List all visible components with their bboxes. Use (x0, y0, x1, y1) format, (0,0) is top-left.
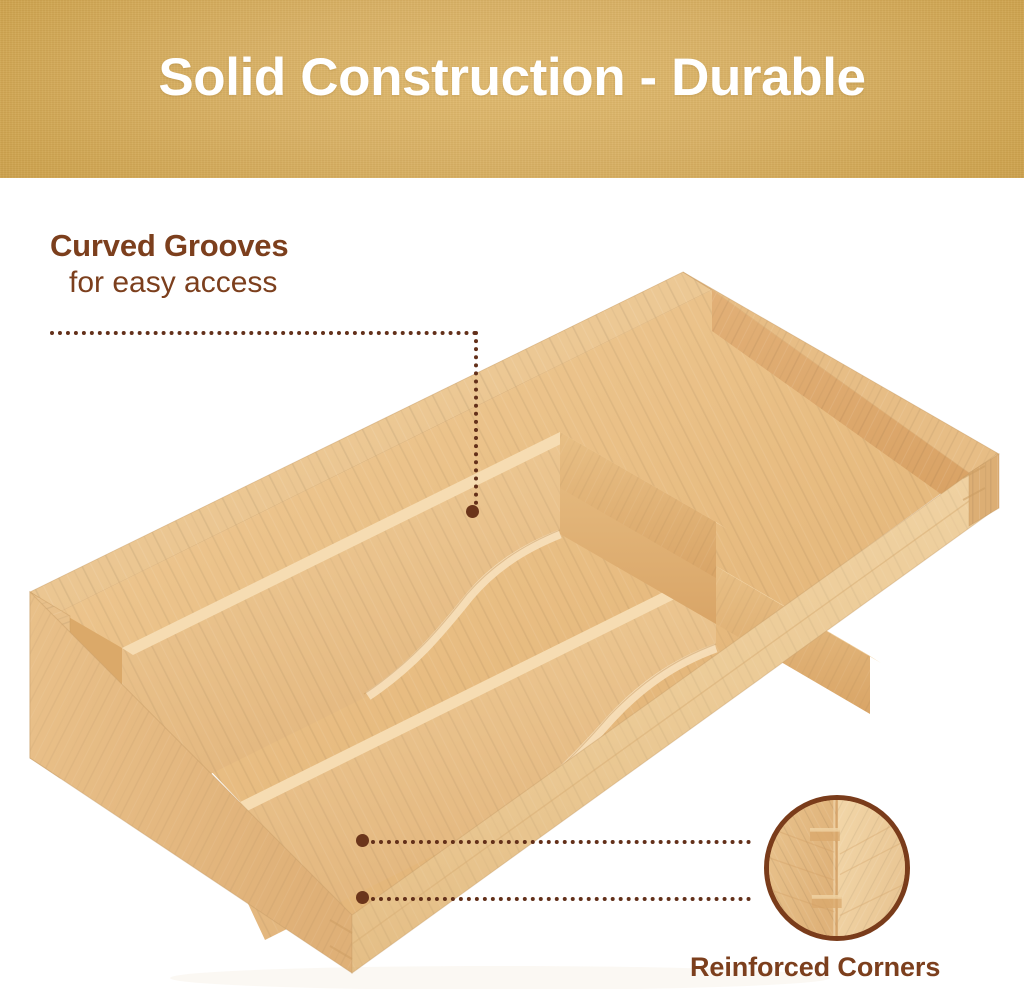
leader-dot-curved-grooves (466, 505, 479, 518)
leader-dot-corner-upper (356, 834, 369, 847)
callout-curved-grooves: Curved Grooves for easy access (50, 228, 288, 301)
header-banner: Solid Construction - Durable (0, 0, 1024, 178)
infographic-page: Solid Construction - Durable (0, 0, 1024, 989)
leader-dot-corner-lower (356, 891, 369, 904)
callout-curved-grooves-subheading: for easy access (50, 265, 288, 301)
leader-line-curved-vertical (474, 331, 478, 513)
page-title: Solid Construction - Durable (0, 50, 1024, 106)
callout-reinforced-corners-label: Reinforced Corners (690, 952, 940, 983)
corner-joint-detail-icon (764, 795, 910, 941)
leader-line-corner-upper (371, 840, 751, 844)
leader-line-corner-lower (371, 897, 751, 901)
callout-curved-grooves-heading: Curved Grooves (50, 228, 288, 264)
leader-line-curved-horizontal (50, 331, 477, 335)
